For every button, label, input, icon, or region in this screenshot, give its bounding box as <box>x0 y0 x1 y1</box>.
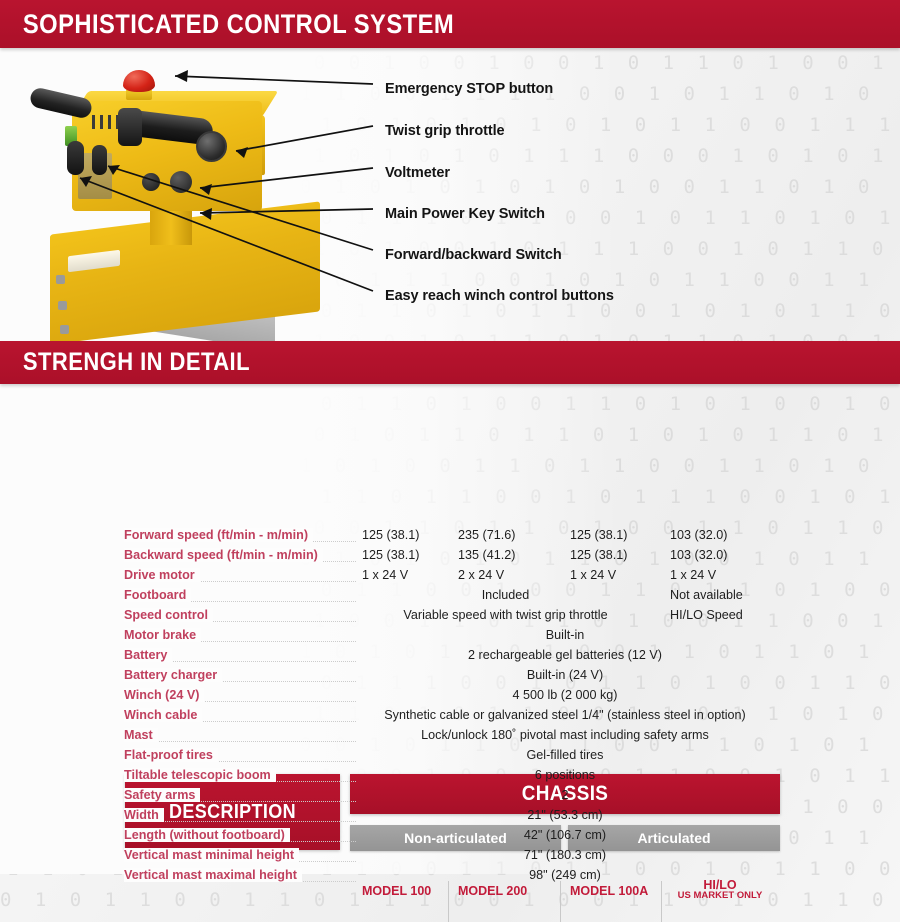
spec-cell-span-1-3: Included <box>350 588 661 602</box>
callout-label-3: Main Power Key Switch <box>385 206 545 222</box>
callout-label-2: Voltmeter <box>385 165 450 181</box>
spec-row-label-wrap: Width <box>124 808 356 828</box>
spec-cell: 1 x 24 V <box>570 568 616 582</box>
spec-cell-span-all: 6 positions <box>350 768 780 782</box>
callout-group: Emergency STOP buttonTwist grip throttle… <box>0 48 900 341</box>
dotted-leader <box>124 741 356 742</box>
spec-cell-span-all: 71" (180.3 cm) <box>350 848 780 862</box>
section-title-2: STRENGH IN DETAIL <box>0 341 792 384</box>
model-header-200: MODEL 200 <box>458 884 527 898</box>
spec-cell: 1 x 24 V <box>670 568 716 582</box>
spec-row-label: Length (without footboard) <box>124 828 290 842</box>
spec-row-label-wrap: Safety arms <box>124 788 356 808</box>
spec-row-label-wrap: Battery charger <box>124 668 356 688</box>
spec-row-label: Speed control <box>124 608 213 622</box>
spec-row-label-wrap: Drive motor <box>124 568 356 588</box>
callout-label-1: Twist grip throttle <box>385 123 504 139</box>
callout-label-0: Emergency STOP button <box>385 81 553 97</box>
spec-cell-span-all: 21" (53.3 cm) <box>350 808 780 822</box>
spec-cell-span-all: 2 rechargeable gel batteries (12 V) <box>350 648 780 662</box>
spec-row-label: Safety arms <box>124 788 200 802</box>
spec-cell-span-all: 98" (249 cm) <box>350 868 780 882</box>
spec-cell-span-1-3: Variable speed with twist grip throttle <box>350 608 661 622</box>
spec-cell-hilo: Not available <box>670 588 743 602</box>
spec-cell-span-all: Gel-filled tires <box>350 748 780 762</box>
spec-cell-span-all: Built-in <box>350 628 780 642</box>
spec-cell-span-all: 4 500 lb (2 000 kg) <box>350 688 780 702</box>
spec-row-label: Winch (24 V) <box>124 688 204 702</box>
spec-row-label-wrap: Mast <box>124 728 356 748</box>
specification-table: DESCRIPTION CHASSIS Non-articulated Arti… <box>0 384 900 922</box>
spec-cell-span-all: Synthetic cable or galvanized steel 1/4"… <box>350 708 780 722</box>
spec-row-label-wrap: Battery <box>124 648 356 668</box>
spec-cell: 103 (32.0) <box>670 528 727 542</box>
spec-row-label-wrap: Motor brake <box>124 628 356 648</box>
spec-cell: 125 (38.1) <box>362 548 419 562</box>
spec-cell-span-all: 2 <box>350 788 780 802</box>
spec-row-label: Vertical mast maximal height <box>124 868 302 882</box>
spec-row-label: Forward speed (ft/min - m/min) <box>124 528 313 542</box>
spec-cell: 125 (38.1) <box>570 548 627 562</box>
spec-cell: 235 (71.6) <box>458 528 515 542</box>
spec-row-label-wrap: Winch cable <box>124 708 356 728</box>
spec-row-label: Drive motor <box>124 568 200 582</box>
spec-cell: 2 x 24 V <box>458 568 504 582</box>
column-divider-2 <box>560 881 561 922</box>
spec-row-label-wrap: Flat-proof tires <box>124 748 356 768</box>
spec-row-label-wrap: Winch (24 V) <box>124 688 356 708</box>
model-header-100: MODEL 100 <box>362 884 431 898</box>
spec-cell-hilo: HI/LO Speed <box>670 608 743 622</box>
spec-row-label-wrap: Footboard <box>124 588 356 608</box>
spec-row-label: Width <box>124 808 164 822</box>
column-divider-1 <box>448 881 449 922</box>
callout-label-5: Easy reach winch control buttons <box>385 288 614 304</box>
spec-cell-span-all: Lock/unlock 180˚ pivotal mast including … <box>350 728 780 742</box>
spec-row-label-wrap: Forward speed (ft/min - m/min) <box>124 528 356 548</box>
spec-cell: 103 (32.0) <box>670 548 727 562</box>
brochure-page: 1 0 1 0 1 1 1 1 0 0 0 1 0 0 1 0 0 1 0 1 … <box>0 0 900 922</box>
spec-row-label: Tiltable telescopic boom <box>124 768 276 782</box>
callout-label-4: Forward/backward Switch <box>385 247 562 263</box>
spec-cell: 125 (38.1) <box>362 528 419 542</box>
section-banner-strength-detail: STRENGH IN DETAIL <box>0 341 900 384</box>
section-banner-control-system: SOPHISTICATED CONTROL SYSTEM <box>0 0 900 48</box>
spec-row-label: Battery charger <box>124 668 222 682</box>
spec-cell-span-all: 42" (106.7 cm) <box>350 828 780 842</box>
column-divider-3 <box>661 881 662 922</box>
spec-cell-span-all: Built-in (24 V) <box>350 668 780 682</box>
spec-row-label-wrap: Tiltable telescopic boom <box>124 768 356 788</box>
spec-row-label: Vertical mast minimal height <box>124 848 299 862</box>
spec-row-label: Backward speed (ft/min - m/min) <box>124 548 323 562</box>
model-header-100a: MODEL 100A <box>570 884 648 898</box>
spec-row-label-wrap: Vertical mast maximal height <box>124 868 356 888</box>
spec-row-label: Battery <box>124 648 172 662</box>
spec-row-label-wrap: Vertical mast minimal height <box>124 848 356 868</box>
spec-row-label: Mast <box>124 728 158 742</box>
spec-row-label-wrap: Length (without footboard) <box>124 828 356 848</box>
spec-row-label-wrap: Backward speed (ft/min - m/min) <box>124 548 356 568</box>
model-header-hilo-sub: US MARKET ONLY <box>670 890 770 901</box>
spec-cell: 125 (38.1) <box>570 528 627 542</box>
spec-cell: 1 x 24 V <box>362 568 408 582</box>
spec-row-label-wrap: Speed control <box>124 608 356 628</box>
spec-row-label: Footboard <box>124 588 191 602</box>
spec-row-label: Flat-proof tires <box>124 748 218 762</box>
section-title-1: SOPHISTICATED CONTROL SYSTEM <box>0 0 792 48</box>
spec-row-label: Winch cable <box>124 708 202 722</box>
spec-cell: 135 (41.2) <box>458 548 515 562</box>
spec-row-label: Motor brake <box>124 628 201 642</box>
